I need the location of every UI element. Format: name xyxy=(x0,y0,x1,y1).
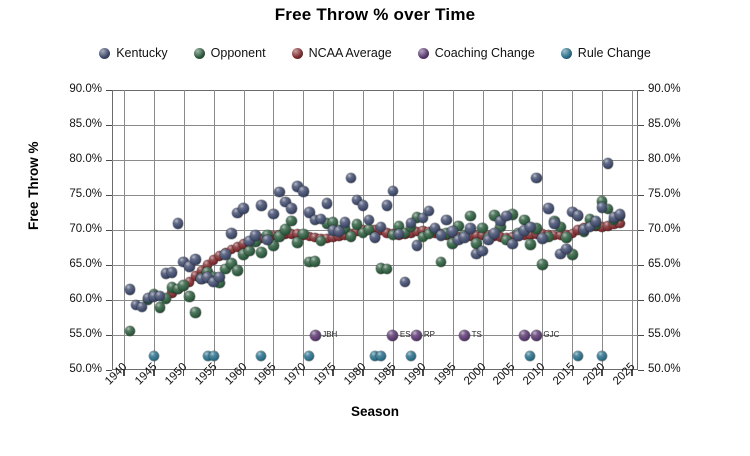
y-axis-tick xyxy=(638,125,644,127)
y-axis-tick xyxy=(638,300,644,302)
data-point-opponent xyxy=(465,211,476,222)
plot-area: JBHESRPTSGJC xyxy=(112,90,638,370)
data-point-opponent xyxy=(190,307,201,318)
data-point-kentucky xyxy=(501,211,512,222)
data-point-kentucky xyxy=(561,244,572,255)
data-point-kentucky xyxy=(155,291,166,302)
y-axis-tick xyxy=(638,90,644,92)
y-axis-tick-label: 85.0% xyxy=(648,118,681,130)
y-axis-tick xyxy=(106,265,112,267)
gridline-horizontal xyxy=(112,125,638,126)
data-point-rule-change xyxy=(149,351,159,361)
y-axis-tick-label: 90.0% xyxy=(648,83,681,95)
y-axis-tick-label: 55.0% xyxy=(44,328,102,340)
data-point-kentucky xyxy=(298,186,309,197)
data-point-kentucky xyxy=(537,233,548,244)
data-point-coaching-change xyxy=(310,330,321,341)
legend-swatch-icon xyxy=(561,48,572,59)
data-point-kentucky xyxy=(549,218,560,229)
data-point-kentucky xyxy=(226,228,237,239)
y-axis-tick-label: 65.0% xyxy=(648,258,681,270)
data-point-coaching-change xyxy=(459,330,470,341)
gridline-vertical xyxy=(244,90,245,370)
legend-label: Coaching Change xyxy=(435,46,535,60)
legend-item-kentucky[interactable]: Kentucky xyxy=(99,46,167,60)
data-point-kentucky xyxy=(525,222,536,233)
data-point-opponent xyxy=(256,247,267,258)
data-point-kentucky xyxy=(358,200,369,211)
data-point-kentucky xyxy=(400,277,411,288)
data-point-opponent xyxy=(525,239,536,250)
data-point-kentucky xyxy=(489,228,500,239)
data-point-opponent xyxy=(155,302,166,313)
gridline-horizontal xyxy=(112,160,638,161)
y-axis-tick-label: 50.0% xyxy=(648,363,681,375)
data-point-kentucky xyxy=(615,209,626,220)
legend-swatch-icon xyxy=(418,48,429,59)
data-point-opponent xyxy=(292,237,303,248)
legend-item-rule-change[interactable]: Rule Change xyxy=(561,46,651,60)
gridline-vertical xyxy=(632,90,633,370)
legend-label: Kentucky xyxy=(116,46,167,60)
y-axis-tick-label: 60.0% xyxy=(648,293,681,305)
coaching-change-label: JBH xyxy=(322,330,337,339)
data-point-coaching-change xyxy=(387,330,398,341)
coaching-change-label: ES xyxy=(400,330,411,339)
data-point-rule-change xyxy=(406,351,416,361)
data-point-opponent xyxy=(477,223,488,234)
data-point-opponent xyxy=(561,232,572,243)
legend-swatch-icon xyxy=(194,48,205,59)
data-point-kentucky xyxy=(531,173,542,184)
y-axis-tick-label: 55.0% xyxy=(648,328,681,340)
legend-item-opponent[interactable]: Opponent xyxy=(194,46,266,60)
y-axis-title: Free Throw % xyxy=(26,141,41,230)
chart-container: Free Throw % over Time KentuckyOpponentN… xyxy=(0,0,750,456)
data-point-kentucky xyxy=(370,232,381,243)
y-axis-tick xyxy=(106,230,112,232)
legend-item-ncaa-average[interactable]: NCAA Average xyxy=(292,46,392,60)
legend-swatch-icon xyxy=(292,48,303,59)
legend-item-coaching-change[interactable]: Coaching Change xyxy=(418,46,535,60)
data-point-kentucky xyxy=(274,187,285,198)
data-point-coaching-change xyxy=(519,330,530,341)
data-point-kentucky xyxy=(125,284,136,295)
data-point-kentucky xyxy=(220,249,231,260)
y-axis-tick xyxy=(106,90,112,92)
data-point-kentucky xyxy=(262,235,273,246)
y-axis-tick xyxy=(106,160,112,162)
y-axis-tick-label: 85.0% xyxy=(44,118,102,130)
gridline-vertical xyxy=(154,90,155,370)
data-point-kentucky xyxy=(322,198,333,209)
y-axis-tick xyxy=(638,265,644,267)
x-axis-title: Season xyxy=(0,404,750,419)
data-point-kentucky xyxy=(250,230,261,241)
y-axis-tick-label: 80.0% xyxy=(648,153,681,165)
legend-label: Opponent xyxy=(211,46,266,60)
data-point-opponent xyxy=(178,280,189,291)
legend-swatch-icon xyxy=(99,48,110,59)
y-axis-tick xyxy=(638,370,644,372)
coaching-change-label: TS xyxy=(472,330,482,339)
chart-title: Free Throw % over Time xyxy=(0,5,750,25)
y-axis-tick-label: 70.0% xyxy=(44,223,102,235)
data-point-opponent xyxy=(184,291,195,302)
data-point-kentucky xyxy=(167,267,178,278)
y-axis-tick-label: 90.0% xyxy=(44,83,102,95)
data-point-opponent xyxy=(286,216,297,227)
data-point-kentucky xyxy=(573,210,584,221)
coaching-change-label: GJC xyxy=(543,330,559,339)
y-axis-tick xyxy=(638,230,644,232)
data-point-kentucky xyxy=(268,209,279,220)
y-axis-tick xyxy=(638,335,644,337)
y-axis-tick xyxy=(638,160,644,162)
data-point-kentucky xyxy=(388,186,399,197)
data-point-kentucky xyxy=(382,200,393,211)
y-axis-tick-label: 75.0% xyxy=(44,188,102,200)
y-axis-tick xyxy=(638,195,644,197)
gridline-horizontal xyxy=(112,195,638,196)
data-point-kentucky xyxy=(238,203,249,214)
y-axis-tick-label: 70.0% xyxy=(648,223,681,235)
y-axis-tick-label: 75.0% xyxy=(648,188,681,200)
data-point-coaching-change xyxy=(531,330,542,341)
data-point-coaching-change xyxy=(411,330,422,341)
data-point-opponent xyxy=(125,326,136,337)
data-point-opponent xyxy=(346,231,357,242)
data-point-rule-change xyxy=(209,351,219,361)
data-point-opponent xyxy=(537,259,548,270)
y-axis-tick-label: 80.0% xyxy=(44,153,102,165)
data-point-kentucky xyxy=(334,226,345,237)
data-point-kentucky xyxy=(173,218,184,229)
legend-label: Rule Change xyxy=(578,46,651,60)
data-point-kentucky xyxy=(477,246,488,257)
data-point-kentucky xyxy=(214,272,225,283)
data-point-kentucky xyxy=(603,158,614,169)
y-axis-tick-label: 60.0% xyxy=(44,293,102,305)
data-point-kentucky xyxy=(543,203,554,214)
data-point-kentucky xyxy=(412,240,423,251)
y-axis-tick xyxy=(106,125,112,127)
y-axis-tick-label: 50.0% xyxy=(44,363,102,375)
data-point-kentucky xyxy=(459,232,470,243)
data-point-kentucky xyxy=(286,203,297,214)
data-point-kentucky xyxy=(465,223,476,234)
data-point-rule-change xyxy=(376,351,386,361)
y-axis-tick-label: 65.0% xyxy=(44,258,102,270)
x-axis-tick-label: 1940 xyxy=(103,361,130,388)
data-point-kentucky xyxy=(436,230,447,241)
gridline-vertical xyxy=(184,90,185,370)
y-axis-tick xyxy=(106,300,112,302)
chart-legend: KentuckyOpponentNCAA AverageCoaching Cha… xyxy=(0,46,750,60)
data-point-opponent xyxy=(298,229,309,240)
data-point-kentucky xyxy=(256,200,267,211)
y-axis-tick xyxy=(106,335,112,337)
data-point-opponent xyxy=(232,265,243,276)
data-point-opponent xyxy=(244,246,255,257)
data-point-kentucky xyxy=(340,217,351,228)
gridline-vertical xyxy=(273,90,274,370)
coaching-change-label: RP xyxy=(424,330,435,339)
gridline-vertical xyxy=(214,90,215,370)
data-point-kentucky xyxy=(190,254,201,265)
legend-label: NCAA Average xyxy=(309,46,392,60)
y-axis-tick xyxy=(106,195,112,197)
